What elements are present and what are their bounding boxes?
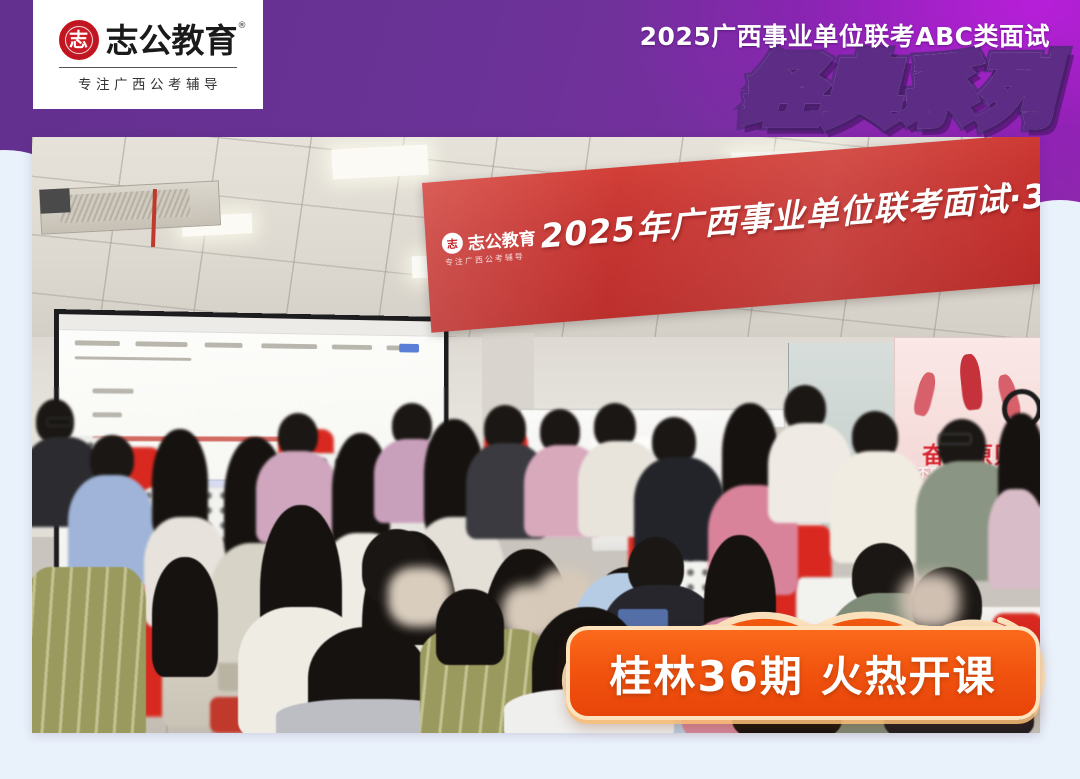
screen-text-line (261, 343, 317, 349)
screen-text-line (332, 345, 372, 350)
ceiling-ac-box-icon (39, 188, 70, 214)
brand-name: 志公教育 ® (106, 24, 238, 57)
brand-logo-plate: 志 志公教育 ® 专注广西公考辅导 (33, 0, 263, 109)
screen-ui-chip (399, 344, 419, 353)
brand-seal-char: 志 (69, 31, 88, 50)
brand-divider (59, 67, 237, 68)
screen-text-line (205, 342, 243, 347)
ribbon-label: 桂林36期 火热开课 (566, 626, 1040, 720)
screen-text-line (75, 340, 120, 346)
registered-mark-icon: ® (238, 22, 247, 31)
screen-rule (75, 356, 192, 361)
page-title: 经典系列 (742, 52, 1054, 132)
screen-app-toolbar (59, 314, 444, 337)
course-ribbon: 桂林36期 火热开课 (548, 604, 1058, 734)
brand-seal-icon: 志 (59, 20, 99, 60)
poster-canvas: 志 志公教育 ® 专注广西公考辅导 2025广西事业单位联考ABC类面试 经典系… (0, 0, 1080, 779)
banner-seal-icon: 志 (441, 232, 463, 255)
brand-tagline: 专注广西公考辅导 (74, 73, 222, 93)
ceiling-light (331, 145, 428, 180)
brand-logo-row: 志 志公教育 ® (59, 20, 238, 60)
brand-name-text: 志公教育 (106, 21, 238, 60)
screen-text-line (135, 341, 187, 347)
